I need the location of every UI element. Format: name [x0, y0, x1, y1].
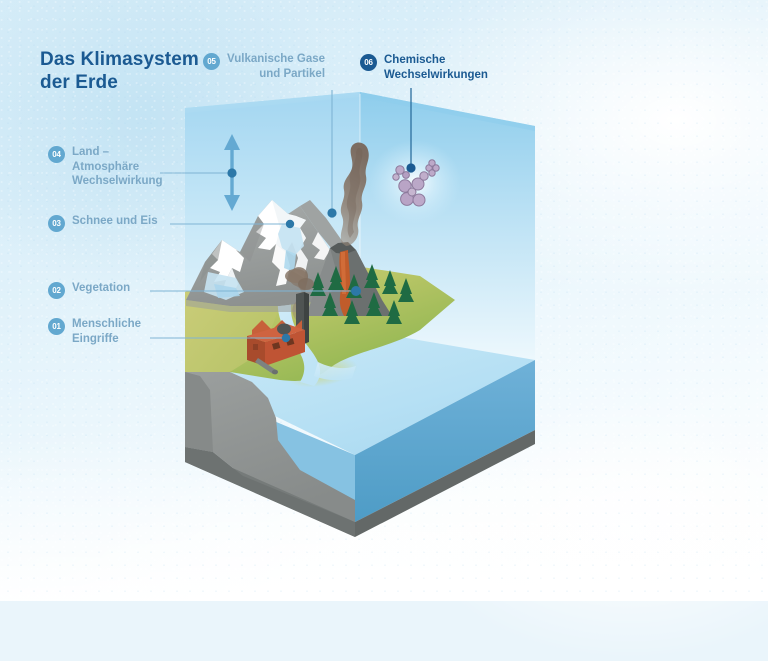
callout-label-02: Vegetation: [72, 281, 130, 296]
callout-label-06: Chemische Wechselwirkungen: [384, 53, 488, 82]
callout-06-chemische-wechselwirkungen[interactable]: 06 Chemische Wechselwirkungen: [360, 53, 488, 82]
callout-badge-04: 04: [48, 146, 65, 163]
callout-badge-01: 01: [48, 318, 65, 335]
callout-badge-06: 06: [360, 54, 377, 71]
climate-system-infographic: Das Klimasystem der Erde 01 Menschliche …: [0, 0, 768, 601]
callout-01-menschliche-eingriffe[interactable]: 01 Menschliche Eingriffe: [48, 317, 141, 346]
callout-02-vegetation[interactable]: 02 Vegetation: [48, 281, 130, 299]
callout-badge-05: 05: [203, 53, 220, 70]
callout-label-05: Vulkanische Gase und Partikel: [227, 52, 325, 81]
callout-05-vulkanische-gase-und-partikel[interactable]: 05 Vulkanische Gase und Partikel: [203, 52, 325, 81]
callout-badge-03: 03: [48, 215, 65, 232]
callout-04-land-atmosphaere-wechselwirkung[interactable]: 04 Land – Atmosphäre Wechselwirkung: [48, 145, 163, 189]
callout-label-04: Land – Atmosphäre Wechselwirkung: [72, 145, 163, 189]
callout-label-01: Menschliche Eingriffe: [72, 317, 141, 346]
callout-label-03: Schnee und Eis: [72, 214, 158, 229]
molecule-cluster: [369, 140, 461, 224]
callout-03-schnee-und-eis[interactable]: 03 Schnee und Eis: [48, 214, 158, 232]
callout-badge-02: 02: [48, 282, 65, 299]
